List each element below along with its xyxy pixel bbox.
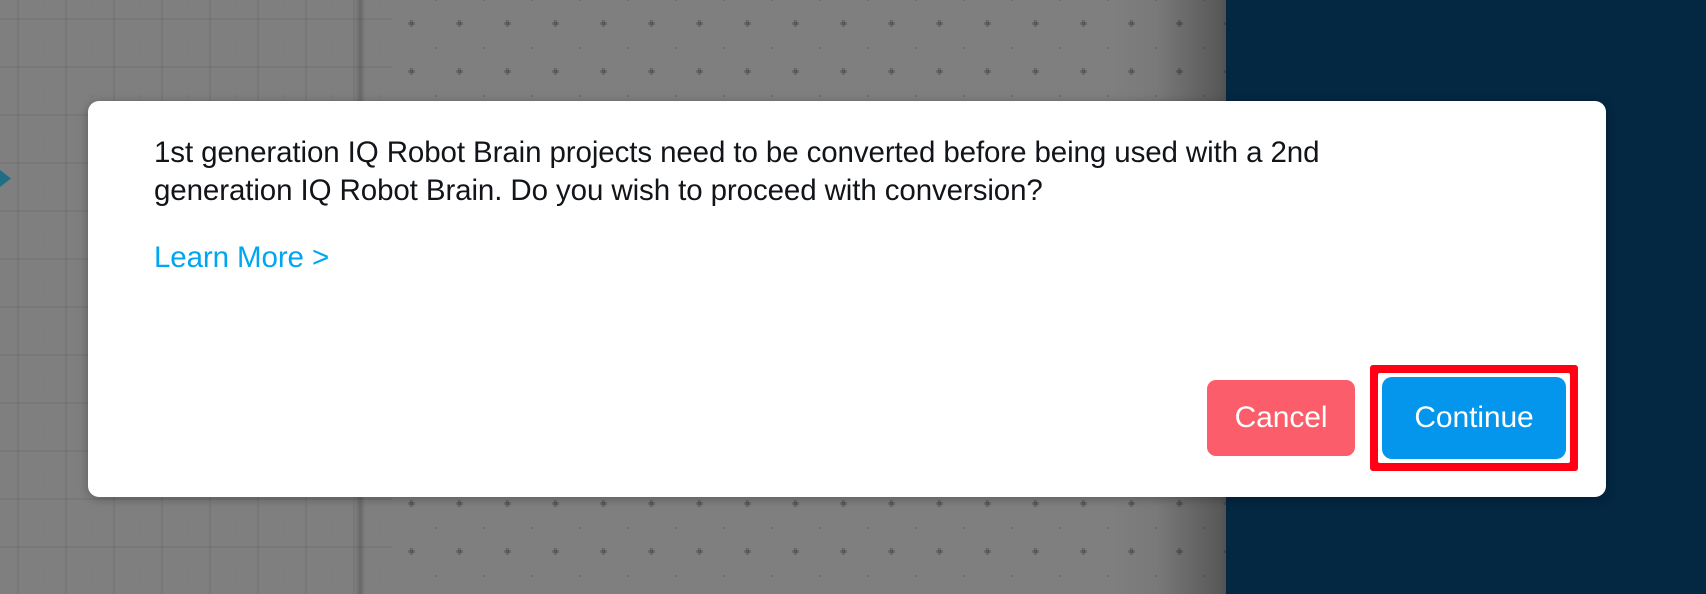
continue-button[interactable]: Continue xyxy=(1382,377,1566,459)
continue-button-highlight: Continue xyxy=(1370,365,1578,471)
learn-more-link[interactable]: Learn More > xyxy=(154,242,329,274)
app-screen: 1st generation IQ Robot Brain projects n… xyxy=(0,0,1706,594)
dialog-body: 1st generation IQ Robot Brain projects n… xyxy=(154,134,1566,274)
dialog-message: 1st generation IQ Robot Brain projects n… xyxy=(154,134,1434,210)
teal-chevron-marker-icon[interactable] xyxy=(0,170,14,187)
continue-button-highlight-inner: Continue xyxy=(1378,373,1570,463)
conversion-confirmation-dialog: 1st generation IQ Robot Brain projects n… xyxy=(88,101,1606,497)
dialog-actions: Cancel Continue xyxy=(1207,365,1578,471)
cancel-button[interactable]: Cancel xyxy=(1207,380,1355,456)
